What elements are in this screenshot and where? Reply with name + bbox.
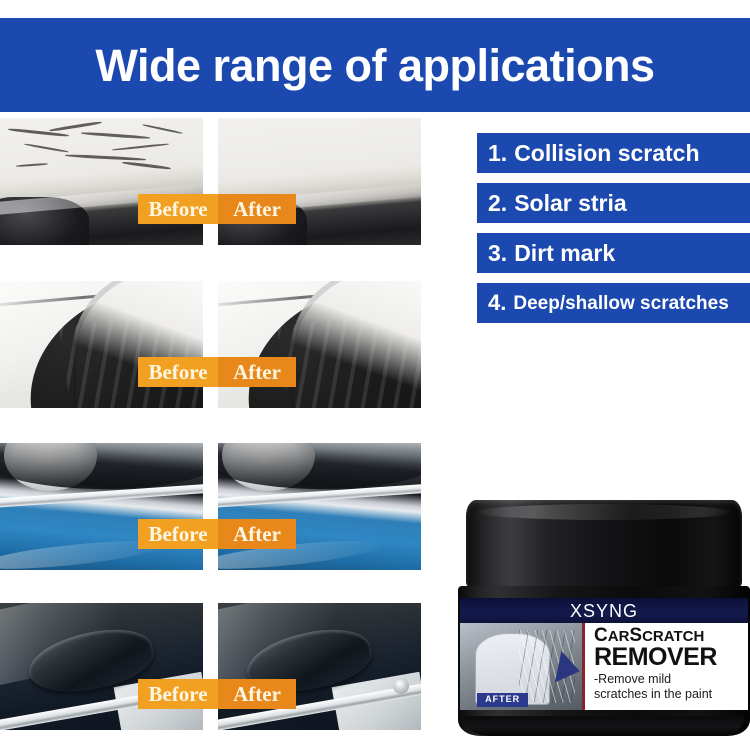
- jar-base: [464, 716, 744, 736]
- before-photo-2: [0, 281, 203, 408]
- applications-list: 1. Collision scratch 2. Solar stria 3. D…: [477, 133, 750, 333]
- application-label-2: Solar stria: [514, 192, 627, 215]
- comparison-row-2: Before After: [0, 281, 421, 408]
- after-label-1: After: [218, 194, 296, 224]
- label-inset-photo: AFTER: [460, 623, 585, 710]
- before-photo-4: [0, 603, 203, 730]
- application-item-1: 1. Collision scratch: [477, 133, 750, 173]
- application-item-3: 3. Dirt mark: [477, 233, 750, 273]
- before-after-badge-4: Before After: [138, 679, 296, 709]
- after-label-2: After: [218, 357, 296, 387]
- after-photo-2: [218, 281, 421, 408]
- page-title: Wide range of applications: [95, 43, 654, 88]
- application-number-3: 3.: [488, 242, 507, 265]
- comparison-row-3: Before After: [0, 443, 421, 570]
- product-jar: XSYNG AFTER CARSCRATCH REMOVER -Remove m…: [458, 500, 750, 738]
- after-label-4: After: [218, 679, 296, 709]
- headlamp-shade-3: [0, 443, 203, 489]
- application-label-3: Dirt mark: [514, 242, 615, 265]
- wheel-arch-2-after: [291, 281, 421, 408]
- before-label-4: Before: [138, 679, 218, 709]
- label-body: AFTER CARSCRATCH REMOVER -Remove mild sc…: [460, 623, 748, 710]
- application-number-4: 4.: [488, 292, 506, 314]
- before-after-badge-1: Before After: [138, 194, 296, 224]
- application-number-2: 2.: [488, 192, 507, 215]
- after-photo-4: [218, 603, 421, 730]
- before-photo-3: [0, 443, 203, 570]
- comparison-row-1: Before After: [0, 118, 421, 245]
- application-item-2: 2. Solar stria: [477, 183, 750, 223]
- before-label-2: Before: [138, 357, 218, 387]
- headlamp-shade-3-after: [218, 443, 421, 489]
- after-label-3: After: [218, 519, 296, 549]
- product-tagline-line1: -Remove mild: [594, 672, 748, 686]
- product-type: REMOVER: [594, 645, 748, 671]
- label-text-block: CARSCRATCH REMOVER -Remove mild scratche…: [585, 623, 748, 710]
- before-photo-1: [0, 118, 203, 245]
- before-after-badge-3: Before After: [138, 519, 296, 549]
- inset-after-badge: AFTER: [477, 693, 528, 707]
- before-after-photo-column: Before After Before: [0, 118, 421, 750]
- after-photo-1: [218, 118, 421, 245]
- dark-trim-1: [0, 197, 89, 245]
- brand-bar: XSYNG: [460, 598, 748, 623]
- before-after-badge-2: Before After: [138, 357, 296, 387]
- application-number-1: 1.: [488, 142, 507, 165]
- application-label-4: Deep/shallow scratches: [513, 294, 728, 313]
- comparison-row-4: Before After: [0, 603, 421, 730]
- product-label: XSYNG AFTER CARSCRATCH REMOVER -Remove m…: [460, 598, 748, 710]
- before-label-1: Before: [138, 194, 218, 224]
- product-advertisement-page: Wide range of applications: [0, 0, 750, 750]
- scratch-marks: [0, 118, 203, 192]
- before-label-3: Before: [138, 519, 218, 549]
- brand-name: XSYNG: [570, 602, 638, 620]
- application-label-1: Collision scratch: [514, 142, 699, 165]
- after-photo-3: [218, 443, 421, 570]
- header-banner: Wide range of applications: [0, 18, 750, 112]
- product-tagline-line2: scratches in the paint: [594, 687, 748, 701]
- wheel-arch-2: [73, 281, 203, 408]
- jar-body: XSYNG AFTER CARSCRATCH REMOVER -Remove m…: [458, 586, 750, 736]
- jar-lid: [466, 500, 742, 588]
- application-item-4: 4. Deep/shallow scratches: [477, 283, 750, 323]
